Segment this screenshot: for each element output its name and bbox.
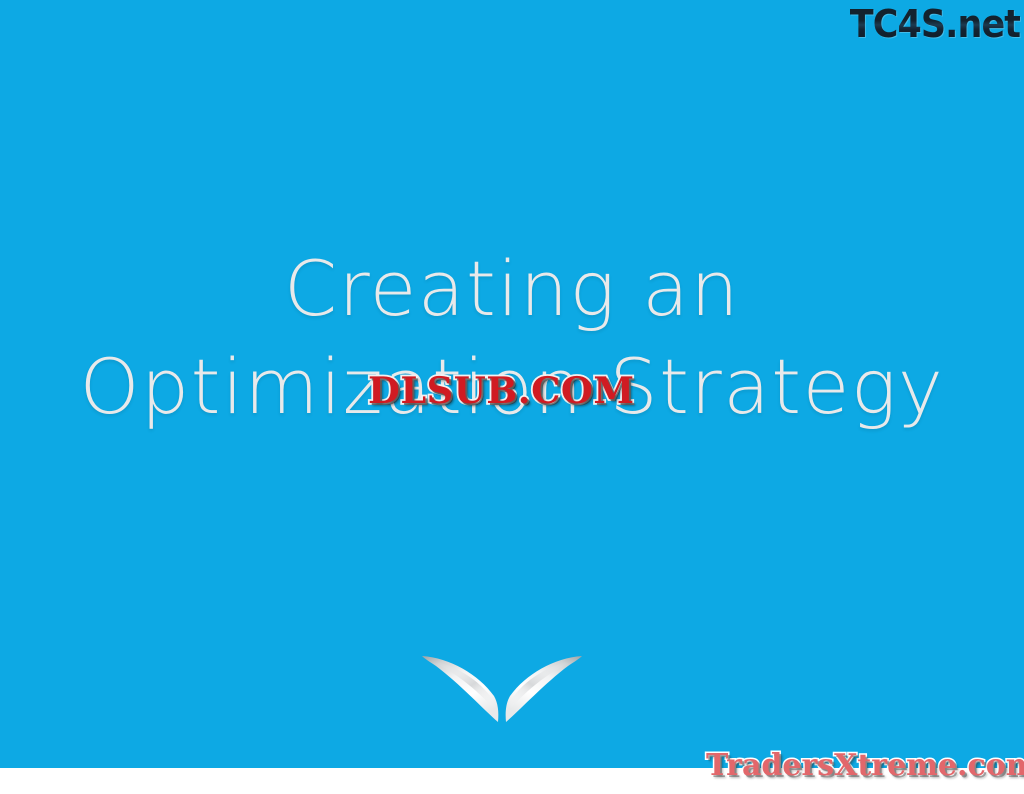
presentation-slide: Creating an Optimization Strategy: [0, 0, 1024, 794]
wings-logo-right-blade: [506, 656, 582, 722]
watermark-tc4s: TC4S.net: [850, 2, 1020, 46]
wings-logo-svg: [420, 650, 584, 728]
watermark-dlsub: DLSUB.COM: [368, 370, 634, 412]
wings-logo-icon: [420, 650, 584, 728]
watermark-tradersxtreme: TradersXtreme.com: [706, 748, 1024, 784]
slide-title-line-1: Creating an: [0, 240, 1024, 338]
wings-logo-left-blade: [422, 656, 498, 722]
